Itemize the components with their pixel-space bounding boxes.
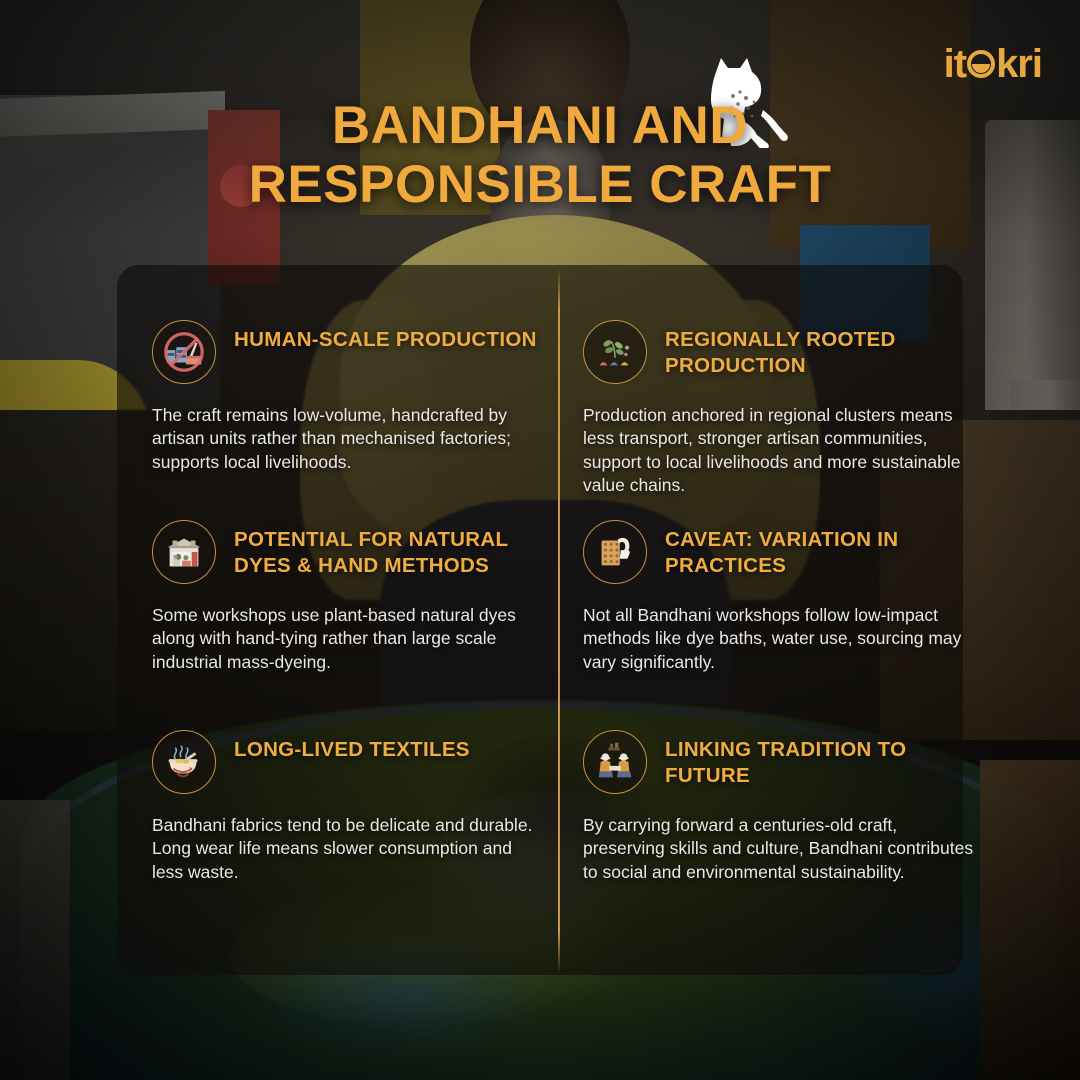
- card-title: REGIONALLY ROOTED PRODUCTION: [665, 318, 983, 379]
- card-body: By carrying forward a centuries-old craf…: [583, 814, 983, 884]
- card-body: The craft remains low-volume, handcrafte…: [152, 404, 547, 474]
- card-header: LINKING TRADITION TO FUTURE: [583, 728, 983, 794]
- card-title: CAVEAT: VARIATION IN PRACTICES: [665, 518, 983, 579]
- card-body: Bandhani fabrics tend to be delicate and…: [152, 814, 547, 884]
- workshop-building-icon: [152, 520, 216, 584]
- card-body: Not all Bandhani workshops follow low-im…: [583, 604, 983, 674]
- card-title: POTENTIAL FOR NATURAL DYES & HAND METHOD…: [234, 518, 547, 579]
- plant-pigments-icon: [583, 320, 647, 384]
- card-title: HUMAN-SCALE PRODUCTION: [234, 318, 537, 353]
- card-linking-tradition-to-future: LINKING TRADITION TO FUTURE By carrying …: [583, 728, 983, 884]
- two-artisans-icon: [583, 730, 647, 794]
- hand-holding-fabric-icon: [583, 520, 647, 584]
- card-long-lived-textiles: LONG-LIVED TEXTILES Bandhani fabrics ten…: [152, 728, 547, 884]
- steaming-dye-pot-icon: [152, 730, 216, 794]
- card-body: Production anchored in regional clusters…: [583, 404, 983, 497]
- card-title: LONG-LIVED TEXTILES: [234, 728, 470, 763]
- card-regionally-rooted-production: REGIONALLY ROOTED PRODUCTION Production …: [583, 318, 983, 497]
- card-header: POTENTIAL FOR NATURAL DYES & HAND METHOD…: [152, 518, 547, 584]
- card-header: HUMAN-SCALE PRODUCTION: [152, 318, 547, 384]
- card-header: REGIONALLY ROOTED PRODUCTION: [583, 318, 983, 384]
- no-factory-icon: [152, 320, 216, 384]
- card-potential-for-natural-dyes: POTENTIAL FOR NATURAL DYES & HAND METHOD…: [152, 518, 547, 674]
- card-header: LONG-LIVED TEXTILES: [152, 728, 547, 794]
- card-caveat-variation-in-practices: CAVEAT: VARIATION IN PRACTICES Not all B…: [583, 518, 983, 674]
- card-title: LINKING TRADITION TO FUTURE: [665, 728, 983, 789]
- card-human-scale-production: HUMAN-SCALE PRODUCTION The craft remains…: [152, 318, 547, 474]
- cards-grid: HUMAN-SCALE PRODUCTION The craft remains…: [0, 0, 1080, 1080]
- card-body: Some workshops use plant-based natural d…: [152, 604, 547, 674]
- card-header: CAVEAT: VARIATION IN PRACTICES: [583, 518, 983, 584]
